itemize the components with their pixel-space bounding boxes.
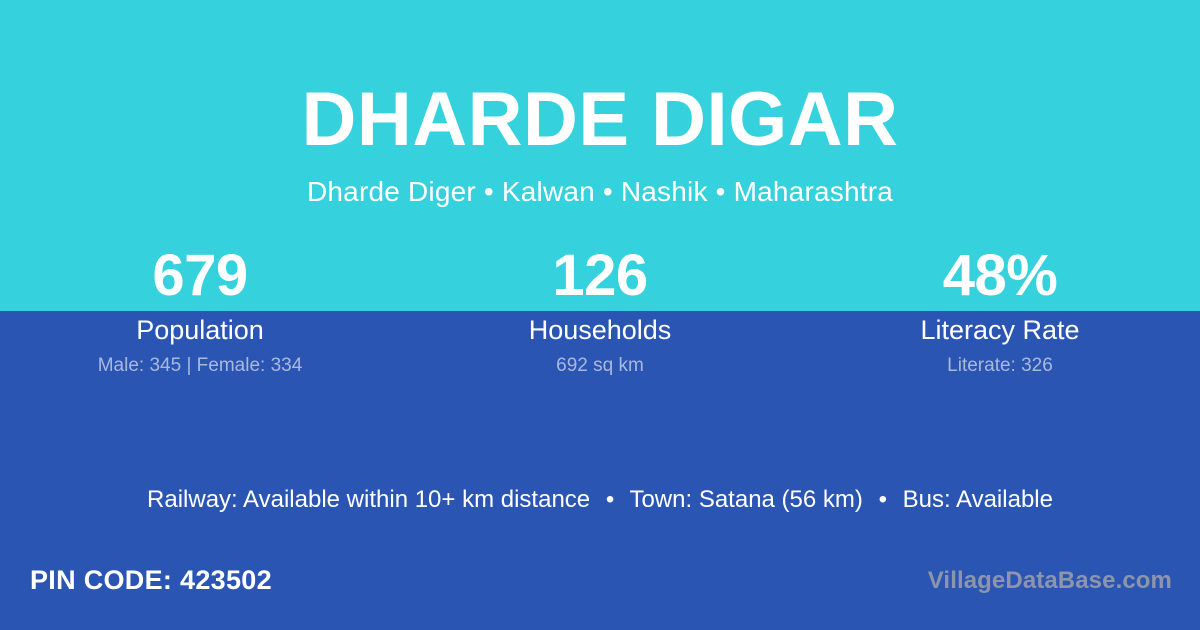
stat-value-population: 679 <box>0 246 400 311</box>
stat-sub-households: 692 sq km <box>400 355 800 378</box>
info-separator-1: • <box>597 485 623 515</box>
card-header: DHARDE DIGAR Dharde Diger • Kalwan • Nas… <box>0 0 1200 208</box>
stat-sub-population: Male: 345 | Female: 334 <box>0 355 400 378</box>
stat-sub-literacy-rate: Literate: 326 <box>800 355 1200 378</box>
info-bus: Bus: Available <box>903 486 1053 513</box>
card-footer: PIN CODE: 423502 VillageDataBase.com <box>0 550 1200 630</box>
stats-row: 679 Population Male: 345 | Female: 334 1… <box>0 246 1200 378</box>
stat-literacy-rate: 48% Literacy Rate Literate: 326 <box>800 246 1200 378</box>
transport-info-line: Railway: Available within 10+ km distanc… <box>0 485 1200 515</box>
info-town: Town: Satana (56 km) <box>629 486 862 513</box>
site-watermark: VillageDataBase.com <box>928 567 1172 596</box>
stat-value-literacy-rate: 48% <box>800 246 1200 311</box>
stat-label-households: Households <box>400 314 800 346</box>
stat-label-population: Population <box>0 314 400 346</box>
village-info-card: DHARDE DIGAR Dharde Diger • Kalwan • Nas… <box>0 0 1200 630</box>
stat-value-households: 126 <box>400 246 800 311</box>
info-railway: Railway: Available within 10+ km distanc… <box>147 486 590 513</box>
stat-population: 679 Population Male: 345 | Female: 334 <box>0 246 400 378</box>
breadcrumb: Dharde Diger • Kalwan • Nashik • Maharas… <box>0 176 1200 208</box>
stat-label-literacy-rate: Literacy Rate <box>800 314 1200 346</box>
info-separator-2: • <box>870 485 896 515</box>
stat-households: 126 Households 692 sq km <box>400 246 800 378</box>
page-title: DHARDE DIGAR <box>0 82 1200 158</box>
pin-code: PIN CODE: 423502 <box>30 564 272 596</box>
